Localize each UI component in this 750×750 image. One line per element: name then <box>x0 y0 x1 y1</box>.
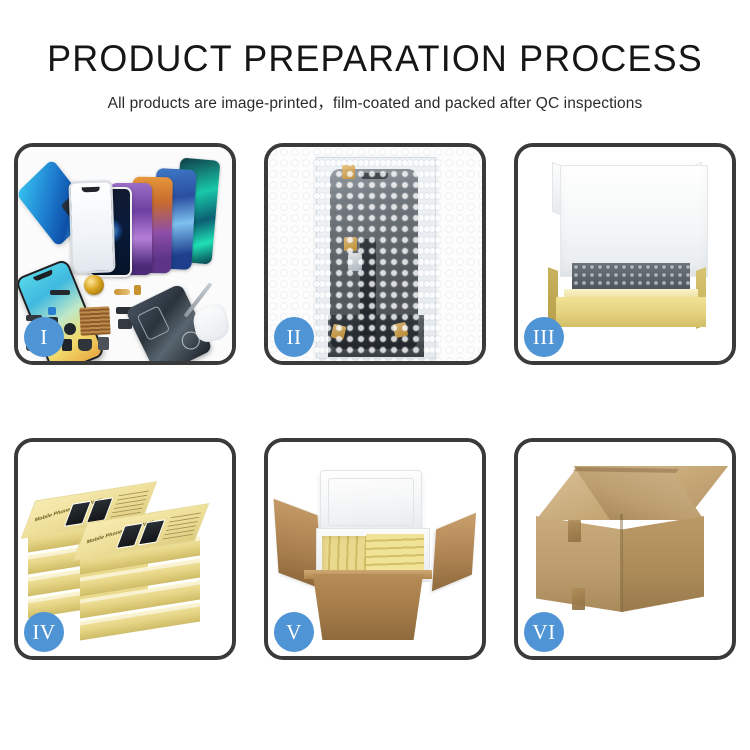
process-step-2[interactable]: II <box>264 143 486 365</box>
open-cardboard-carton-icon <box>308 574 428 640</box>
carton-flap-right-icon <box>432 513 476 592</box>
connector-icon <box>348 253 362 271</box>
adhesive-tape-icon <box>344 237 357 251</box>
process-step-5[interactable]: V <box>264 438 486 660</box>
carton-vertical-seam <box>620 514 623 612</box>
adhesive-tape-icon <box>393 322 409 338</box>
process-step-6[interactable]: VI <box>514 438 736 660</box>
chip-grid-icon <box>79 306 110 336</box>
step-badge-6: VI <box>524 612 564 652</box>
step-badge-3: III <box>524 317 564 357</box>
process-step-4[interactable]: Mobile Phone Spare Parts Mobile Phone Sp… <box>14 438 236 660</box>
box-spec-lines <box>163 511 202 539</box>
process-step-1[interactable]: I <box>14 143 236 365</box>
flex-cable-icon <box>134 285 141 295</box>
flex-cable-icon <box>114 289 130 295</box>
camera-module-icon <box>64 323 76 335</box>
yellow-kraft-box-icon <box>556 297 706 327</box>
tape-seal-icon <box>568 520 581 542</box>
phone-screen-white-icon <box>68 180 115 273</box>
process-step-3[interactable]: III <box>514 143 736 365</box>
white-foam-lining-icon <box>560 165 708 277</box>
step-badge-4: IV <box>24 612 64 652</box>
tape-seal-icon <box>572 588 585 610</box>
foam-cooler-lid-icon <box>320 470 422 534</box>
page-header: PRODUCT PREPARATION PROCESS All products… <box>0 0 750 113</box>
speaker-icon <box>78 339 92 351</box>
process-steps-grid: I II III <box>14 143 736 660</box>
page-title: PRODUCT PREPARATION PROCESS <box>11 40 739 77</box>
small-part-icon <box>48 307 56 315</box>
speaker-coil-icon <box>84 275 104 295</box>
page-subtitle: All products are image-printed，film-coat… <box>0 77 750 113</box>
step-badge-2: II <box>274 317 314 357</box>
carton-side-face-icon <box>622 516 704 612</box>
display-assemblies-group <box>80 157 230 275</box>
step-badge-5: V <box>274 612 314 652</box>
small-part-icon <box>50 290 70 295</box>
step-badge-1: I <box>24 317 64 357</box>
small-part-icon <box>98 337 109 350</box>
adhesive-tape-icon <box>342 165 355 179</box>
